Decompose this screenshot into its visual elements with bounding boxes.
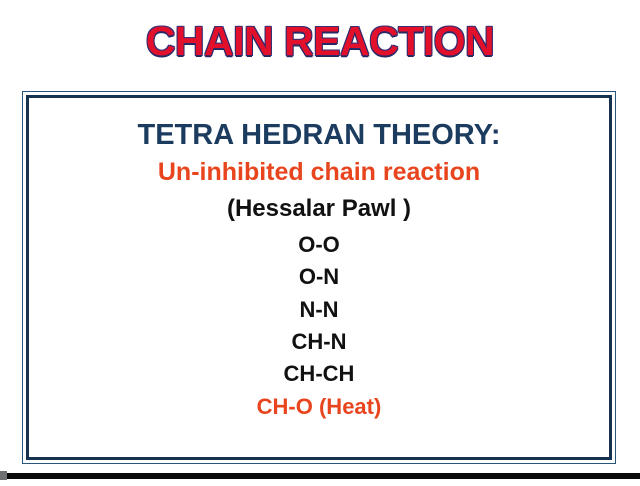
footer-rule <box>0 473 640 479</box>
page-title: CHAIN REACTION <box>0 18 640 65</box>
slide-canvas: CHAIN REACTION TETRA HEDRAN THEORY: Un-i… <box>0 0 640 486</box>
theory-heading: TETRA HEDRAN THEORY: <box>41 118 597 152</box>
list-item: CH-O (Heat) <box>41 391 597 423</box>
footer-rule-cap <box>0 471 7 480</box>
theory-attribution: (Hessalar Pawl ) <box>41 195 597 223</box>
content-frame-outer: TETRA HEDRAN THEORY: Un-inhibited chain … <box>22 91 616 464</box>
content-area: TETRA HEDRAN THEORY: Un-inhibited chain … <box>29 98 609 457</box>
theory-subheading: Un-inhibited chain reaction <box>41 158 597 188</box>
list-item: N-N <box>41 294 597 326</box>
list-item: CH-N <box>41 326 597 358</box>
list-item: O-N <box>41 261 597 293</box>
list-item: O-O <box>41 229 597 261</box>
content-frame-inner: TETRA HEDRAN THEORY: Un-inhibited chain … <box>26 95 612 460</box>
formula-list: O-O O-N N-N CH-N CH-CH CH-O (Heat) <box>41 229 597 423</box>
list-item: CH-CH <box>41 358 597 390</box>
